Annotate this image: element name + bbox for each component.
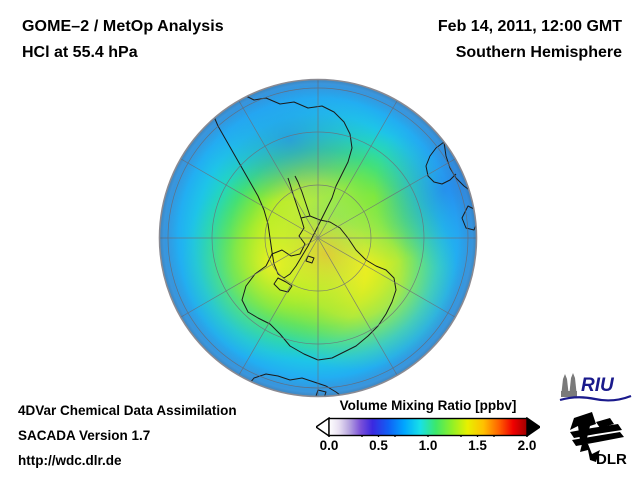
timestamp-label: Feb 14, 2011, 12:00 GMT (438, 18, 622, 36)
dlr-wordmark: DLR (596, 451, 627, 468)
colorbar-extend-max (527, 418, 540, 436)
region-label: Southern Hemisphere (456, 44, 622, 62)
colorbar-tick-label: 0.5 (369, 438, 388, 453)
colorbar-tick-label: 0.0 (320, 438, 339, 453)
globe-svg (158, 78, 478, 398)
analysis-title: GOME–2 / MetOp Analysis (22, 18, 224, 36)
colorbar-swatch (316, 417, 540, 437)
riu-wave-icon (560, 396, 631, 400)
website-url: http://wdc.dlr.de (18, 453, 122, 468)
colorbar-tick-label: 1.0 (419, 438, 438, 453)
colorbar-tick-label: 1.5 (468, 438, 487, 453)
riu-wordmark: RIU (581, 375, 615, 396)
colorbar-tick-labels: 0.00.51.01.52.0 (316, 438, 540, 456)
colorbar-tick-label: 2.0 (518, 438, 537, 453)
colorbar-gradient (329, 419, 527, 436)
polar-projection-map (158, 78, 478, 398)
cathedral-towers-icon (561, 373, 577, 397)
colorbar-title: Volume Mixing Ratio [ppbv] (316, 398, 540, 413)
riu-logo: RIU (557, 371, 633, 405)
species-level-label: HCl at 55.4 hPa (22, 44, 138, 62)
dlr-logo: DLR (566, 410, 634, 468)
limb-shading (159, 79, 477, 397)
method-label: 4DVar Chemical Data Assimilation (18, 403, 237, 418)
colorbar-extend-min (316, 418, 329, 436)
colorbar: Volume Mixing Ratio [ppbv] 0.00.51.01.52… (316, 398, 540, 456)
coastline-new-zealand (384, 384, 400, 398)
version-label: SACADA Version 1.7 (18, 428, 150, 443)
